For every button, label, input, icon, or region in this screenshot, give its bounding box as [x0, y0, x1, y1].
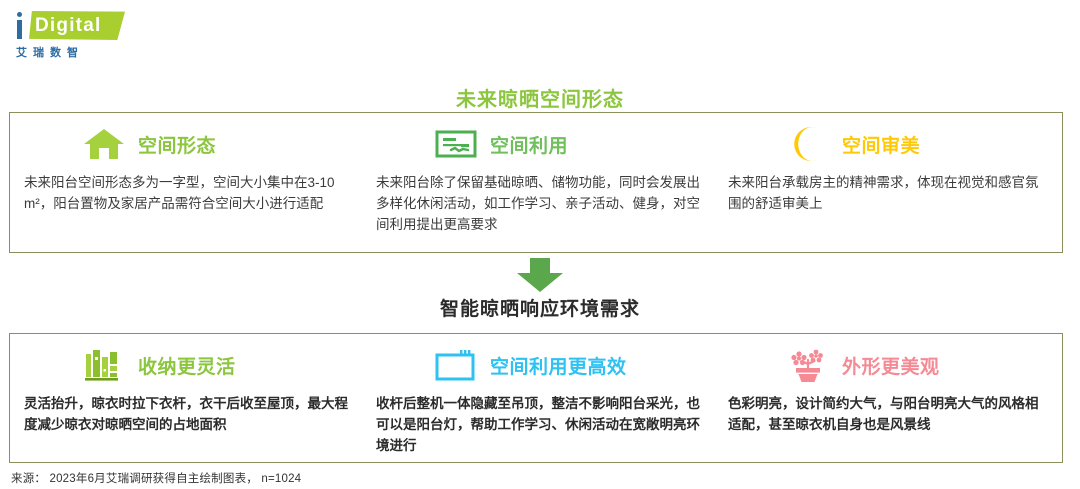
logo-wordmark-row: Digital	[14, 11, 134, 41]
card-space-aesthetics: 空间审美 未来阳台承载房主的精神需求，体现在视觉和感官氛围的舒适审美上	[714, 113, 1062, 252]
card-header: 空间利用	[376, 123, 700, 165]
card-body-text: 未来阳台承载房主的精神需求，体现在视觉和感官氛围的舒适审美上	[728, 173, 1048, 215]
window-panel-icon	[434, 346, 478, 384]
infographic-page: Digital 艾瑞数智 未来晾晒空间形态 空间形态 未来阳台空间形态多为一字型…	[0, 0, 1080, 489]
top-cards-row: 空间形态 未来阳台空间形态多为一字型，空间大小集中在3-10 m²，阳台置物及家…	[10, 113, 1062, 252]
logo-i-stem-icon	[17, 20, 22, 39]
bottom-cards-row: 收纳更灵活 灵活抬升，晾衣时拉下衣杆，衣干后收至屋顶，最大程度减少晾衣对晾晒空间…	[10, 334, 1062, 462]
card-title: 空间利用	[490, 131, 568, 158]
arrow-shape	[517, 258, 563, 292]
brand-logo: Digital 艾瑞数智	[14, 11, 134, 59]
potted-flower-icon	[786, 346, 830, 384]
card-body-text: 色彩明亮，设计简约大气，与阳台明亮大气的风格相适配，甚至晾衣机自身也是风景线	[728, 394, 1048, 436]
crescent-moon-icon	[786, 125, 830, 163]
card-title: 外形更美观	[842, 352, 940, 379]
logo-green-tag: Digital	[29, 11, 125, 40]
house-icon	[82, 125, 126, 163]
card-body-text: 未来阳台除了保留基础晾晒、储物功能，同时会发展出多样化休闲活动，如工作学习、亲子…	[376, 173, 700, 236]
card-body-text: 灵活抬升，晾衣时拉下衣杆，衣干后收至屋顶，最大程度减少晾衣对晾晒空间的占地面积	[24, 394, 348, 436]
card-space-efficiency: 空间利用更高效 收杆后整机一体隐藏至吊顶，整洁不影响阳台采光，也可以是阳台灯，帮…	[362, 334, 714, 462]
card-appearance-beauty: 外形更美观 色彩明亮，设计简约大气，与阳台明亮大气的风格相适配，甚至晾衣机自身也…	[714, 334, 1062, 462]
card-body-text: 未来阳台空间形态多为一字型，空间大小集中在3-10 m²，阳台置物及家居产品需符…	[24, 173, 348, 215]
books-shelf-icon	[82, 346, 126, 384]
card-header: 外形更美观	[728, 344, 1048, 386]
source-note: 来源： 2023年6月艾瑞调研获得自主绘制图表， n=1024	[11, 470, 301, 486]
card-title: 收纳更灵活	[138, 352, 236, 379]
card-title: 空间审美	[842, 131, 920, 158]
drying-rack-icon	[434, 125, 478, 163]
card-header: 收纳更灵活	[24, 344, 348, 386]
logo-wordmark-text: Digital	[29, 16, 101, 35]
card-space-utilization: 空间利用 未来阳台除了保留基础晾晒、储物功能，同时会发展出多样化休闲活动，如工作…	[362, 113, 714, 252]
card-title: 空间利用更高效	[490, 352, 627, 379]
card-body-text: 收杆后整机一体隐藏至吊顶，整洁不影响阳台采光，也可以是阳台灯，帮助工作学习、休闲…	[376, 394, 700, 457]
logo-i-dot-icon	[17, 12, 22, 17]
page-title: 未来晾晒空间形态	[0, 83, 1080, 112]
top-panel: 空间形态 未来阳台空间形态多为一字型，空间大小集中在3-10 m²，阳台置物及家…	[9, 112, 1063, 253]
card-space-form: 空间形态 未来阳台空间形态多为一字型，空间大小集中在3-10 m²，阳台置物及家…	[10, 113, 362, 252]
bottom-panel: 收纳更灵活 灵活抬升，晾衣时拉下衣杆，衣干后收至屋顶，最大程度减少晾衣对晾晒空间…	[9, 333, 1063, 463]
card-header: 空间利用更高效	[376, 344, 700, 386]
down-arrow-icon	[0, 258, 1080, 297]
card-storage-flexible: 收纳更灵活 灵活抬升，晾衣时拉下衣杆，衣干后收至屋顶，最大程度减少晾衣对晾晒空间…	[10, 334, 362, 462]
section-subtitle: 智能晾晒响应环境需求	[0, 294, 1080, 321]
card-header: 空间形态	[24, 123, 348, 165]
arrow-head	[517, 273, 563, 292]
logo-i-letter-icon	[14, 11, 28, 40]
card-title: 空间形态	[138, 131, 216, 158]
card-header: 空间审美	[728, 123, 1048, 165]
logo-chinese-text: 艾瑞数智	[14, 44, 134, 60]
